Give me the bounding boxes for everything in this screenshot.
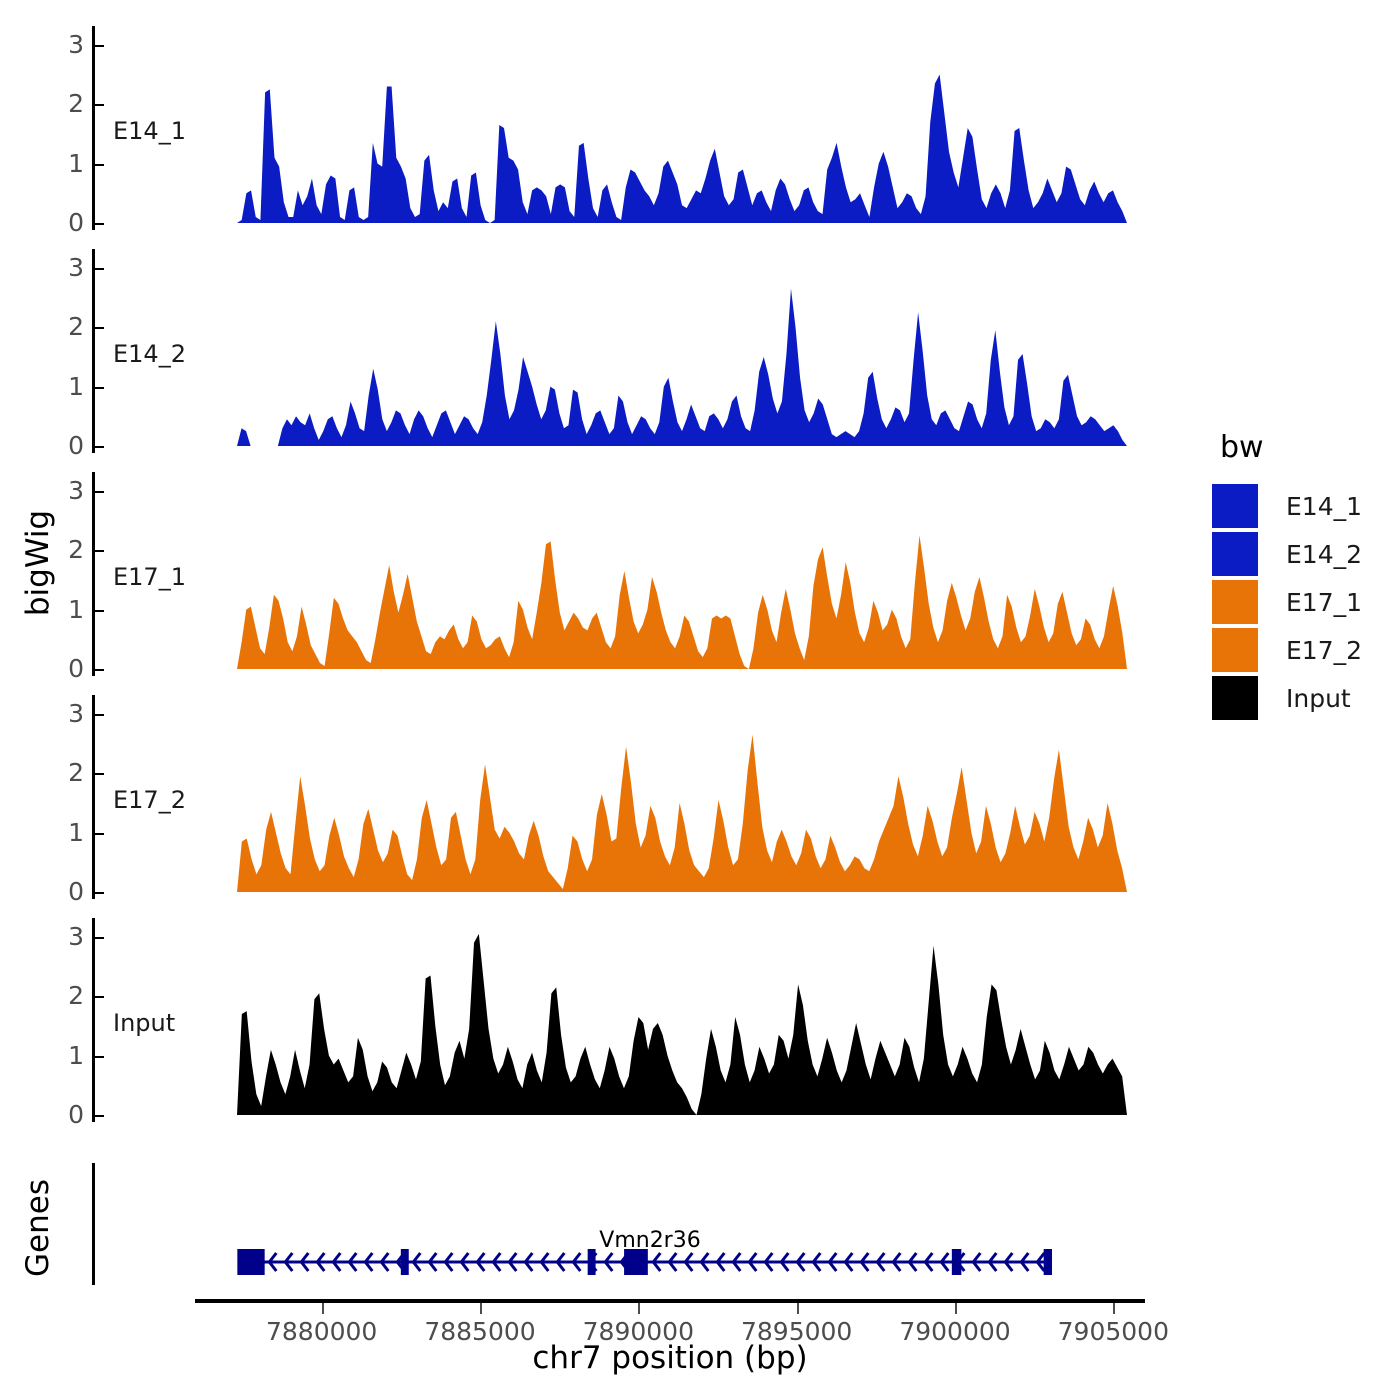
x-tick-label: 7890000 [558, 1317, 718, 1346]
y-tick-label: 0 [40, 879, 84, 904]
legend-items: E14_1E14_2E17_1E17_2Input [1212, 483, 1362, 721]
x-tick [1113, 1303, 1115, 1314]
y-tick [95, 610, 104, 612]
y-axis-line [92, 249, 95, 453]
legend-swatch [1212, 580, 1258, 624]
gene-exon[interactable] [624, 1249, 648, 1275]
y-axis-line [92, 695, 95, 899]
x-axis-line [195, 1299, 1145, 1303]
legend-item-e14_2[interactable]: E14_2 [1212, 531, 1362, 577]
y-tick [95, 327, 104, 329]
y-tick-label: 0 [40, 656, 84, 681]
y-tick [95, 773, 104, 775]
y-tick [95, 1115, 104, 1117]
y-tick-label: 1 [40, 597, 84, 622]
y-tick-label: 1 [40, 1043, 84, 1068]
y-tick [95, 669, 104, 671]
x-tick [955, 1303, 957, 1314]
x-tick-label: 7885000 [400, 1317, 560, 1346]
x-tick [480, 1303, 482, 1314]
genome-browser-figure: bigWig Genes chr7 position (bp) 0123E14_… [0, 0, 1400, 1400]
y-tick-label: 1 [40, 374, 84, 399]
x-tick-label: 7905000 [1033, 1317, 1193, 1346]
y-tick [95, 937, 104, 939]
y-tick-label: 2 [40, 760, 84, 785]
gene-exon[interactable] [401, 1249, 409, 1275]
x-tick-label: 7880000 [242, 1317, 402, 1346]
y-tick-label: 2 [40, 91, 84, 116]
track-label-e17_2: E17_2 [113, 786, 186, 814]
y-tick-label: 3 [40, 478, 84, 503]
gene-exon[interactable] [1044, 1249, 1050, 1275]
track-label-e14_2: E14_2 [113, 340, 186, 368]
y-tick-label: 0 [40, 1102, 84, 1127]
y-tick [95, 223, 104, 225]
waveform-e17_1 [0, 0, 1160, 1400]
gene-exon[interactable] [239, 1249, 264, 1275]
y-tick-label: 3 [40, 701, 84, 726]
x-tick-label: 7900000 [875, 1317, 1035, 1346]
legend-swatch [1212, 532, 1258, 576]
y-tick [95, 1056, 104, 1058]
legend-item-input[interactable]: Input [1212, 675, 1362, 721]
y-tick-label: 2 [40, 983, 84, 1008]
legend-item-e17_2[interactable]: E17_2 [1212, 627, 1362, 673]
y-tick [95, 164, 104, 166]
gene-exon[interactable] [952, 1249, 962, 1275]
track-label-input: Input [113, 1009, 175, 1037]
y-tick [95, 491, 104, 493]
y-tick-label: 0 [40, 210, 84, 235]
legend-item-e14_1[interactable]: E14_1 [1212, 483, 1362, 529]
y-axis-line [92, 918, 95, 1122]
y-tick-label: 1 [40, 820, 84, 845]
legend-swatch [1212, 628, 1258, 672]
y-tick [95, 45, 104, 47]
track-label-e14_1: E14_1 [113, 117, 186, 145]
y-tick [95, 387, 104, 389]
y-tick [95, 446, 104, 448]
y-tick [95, 104, 104, 106]
y-tick [95, 714, 104, 716]
y-tick-label: 3 [40, 924, 84, 949]
y-tick-label: 2 [40, 537, 84, 562]
legend-label: E17_1 [1286, 588, 1362, 617]
x-tick-label: 7895000 [717, 1317, 877, 1346]
gene-model-track[interactable] [0, 1240, 1160, 1286]
y-tick [95, 892, 104, 894]
y-tick-label: 3 [40, 255, 84, 280]
legend-label: E17_2 [1286, 636, 1362, 665]
legend-label: E14_2 [1286, 540, 1362, 569]
waveform-e14_1 [0, 0, 1160, 1400]
y-tick-label: 0 [40, 433, 84, 458]
waveform-input [0, 0, 1160, 1400]
x-tick [638, 1303, 640, 1314]
gene-exon[interactable] [588, 1249, 596, 1275]
x-tick [797, 1303, 799, 1314]
legend-label: Input [1286, 684, 1351, 713]
waveform-e14_2 [0, 0, 1160, 1400]
y-axis-line [92, 472, 95, 676]
y-tick [95, 833, 104, 835]
track-label-e17_1: E17_1 [113, 563, 186, 591]
y-axis-line [92, 26, 95, 230]
legend-swatch [1212, 484, 1258, 528]
x-tick [322, 1303, 324, 1314]
legend-item-e17_1[interactable]: E17_1 [1212, 579, 1362, 625]
y-tick-label: 3 [40, 32, 84, 57]
legend-title: bw [1220, 430, 1362, 465]
y-tick-label: 1 [40, 151, 84, 176]
y-tick [95, 268, 104, 270]
legend-label: E14_1 [1286, 492, 1362, 521]
legend-swatch [1212, 676, 1258, 720]
y-tick [95, 550, 104, 552]
waveform-e17_2 [0, 0, 1160, 1400]
legend: bw E14_1E14_2E17_1E17_2Input [1212, 430, 1362, 723]
y-tick-label: 2 [40, 314, 84, 339]
y-tick [95, 996, 104, 998]
